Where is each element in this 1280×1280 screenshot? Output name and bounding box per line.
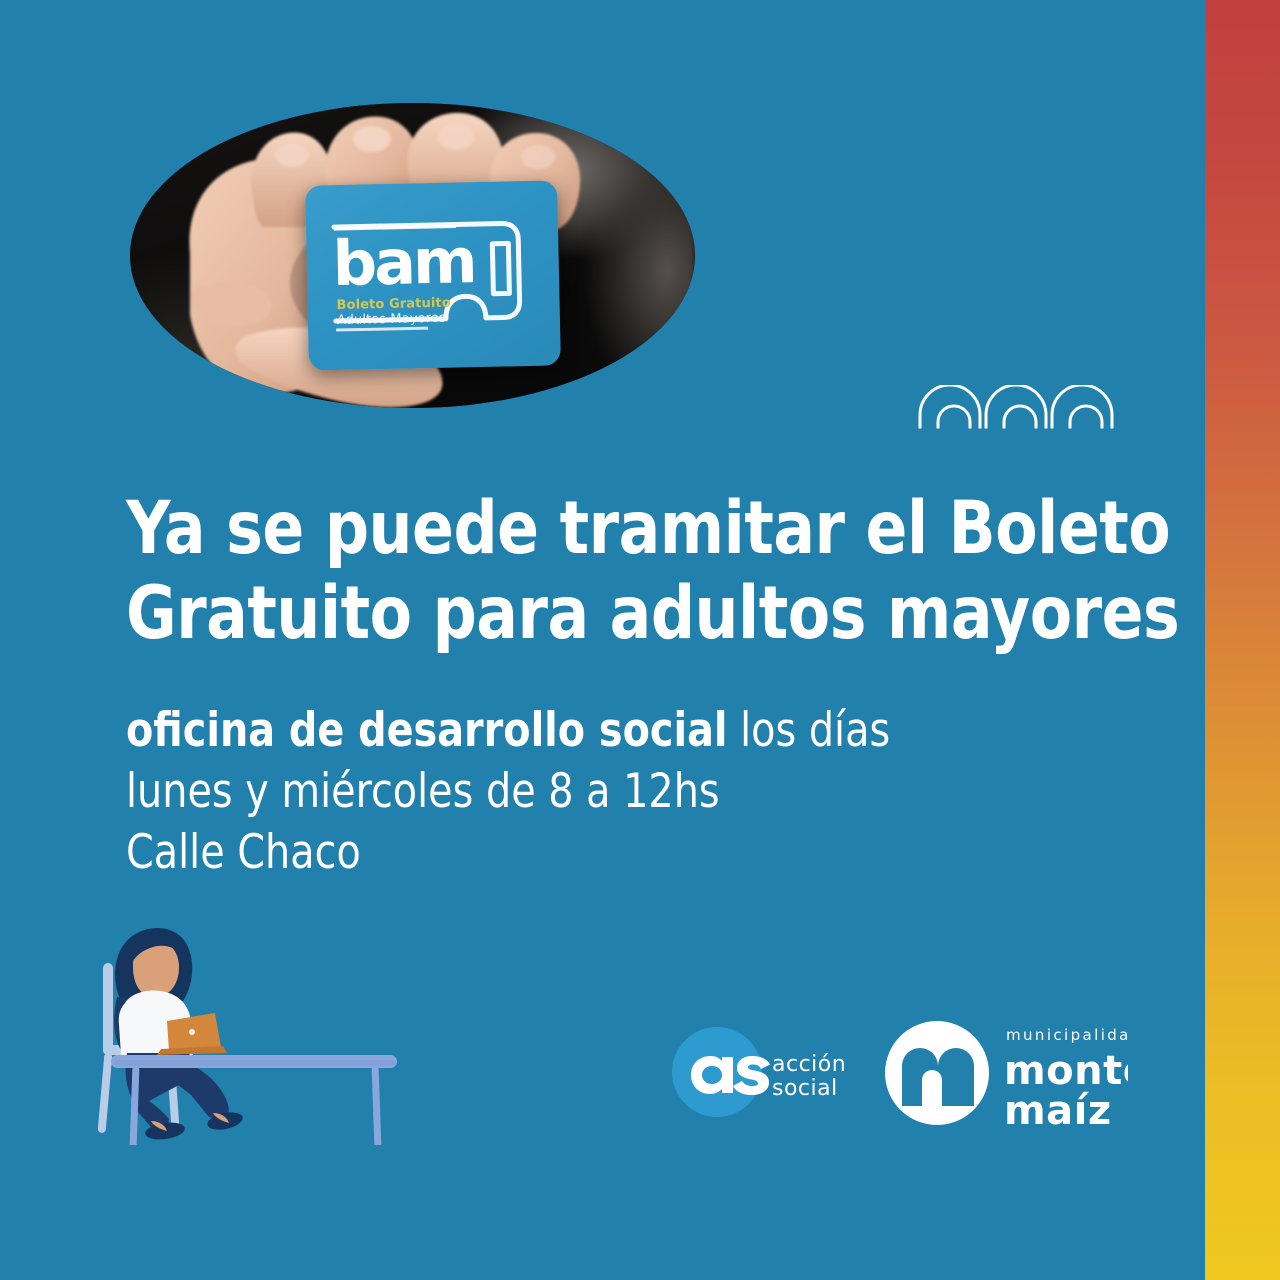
leg-front [173, 1061, 229, 1119]
headline-line-2: Gratuito para adultos mayores [126, 572, 1085, 657]
bam-wordmark: bam [332, 230, 475, 295]
poster-canvas: bam Boleto Gratuito Adultos Mayores Ya s… [0, 0, 1280, 1280]
laptop-logo [189, 1029, 195, 1035]
body-line-1-emphasis: oficina de desarrollo social [126, 703, 728, 758]
bam-subtitle-adultos-mayores: Adultos Mayores [337, 311, 446, 328]
body-line-1: oficina de desarrollo social los días [126, 700, 972, 761]
municipalidad-eyebrow: municipalidad [1006, 1026, 1128, 1044]
woman-at-desk-illustration [85, 905, 425, 1145]
monte-maiz-wordmark: municipalidad monte maíz [1004, 1026, 1128, 1132]
body-line-2: lunes y miércoles de 8 a 12hs [126, 761, 972, 822]
monte-maiz-logo: municipalidad monte maíz [878, 1014, 1128, 1132]
hand-holding-card-photo: bam Boleto Gratuito Adultos Mayores [130, 103, 695, 408]
headline-line-1: Ya se puede tramitar el Boleto [126, 487, 1085, 572]
social-line: social [772, 1076, 838, 1101]
body-line-3: Calle Chaco [126, 822, 972, 883]
bam-card: bam Boleto Gratuito Adultos Mayores [305, 180, 561, 370]
accion-social-logo: acción social [672, 1023, 852, 1121]
body-copy: oficina de desarrollo social los días lu… [126, 700, 972, 883]
monte-maiz-monogram-circle [885, 1021, 989, 1125]
accion-social-wordmark: acción social [772, 1052, 846, 1101]
bam-card-face: bam Boleto Gratuito Adultos Mayores [305, 180, 561, 370]
accent-gradient-strip [1205, 0, 1280, 1280]
accion-line: acción [772, 1052, 846, 1077]
headline: Ya se puede tramitar el Boleto Gratuito … [126, 487, 1085, 656]
maiz-line: maíz [1004, 1088, 1112, 1132]
body-line-1-rest: los días [728, 703, 891, 758]
arches-decoration-icon [918, 385, 1118, 429]
